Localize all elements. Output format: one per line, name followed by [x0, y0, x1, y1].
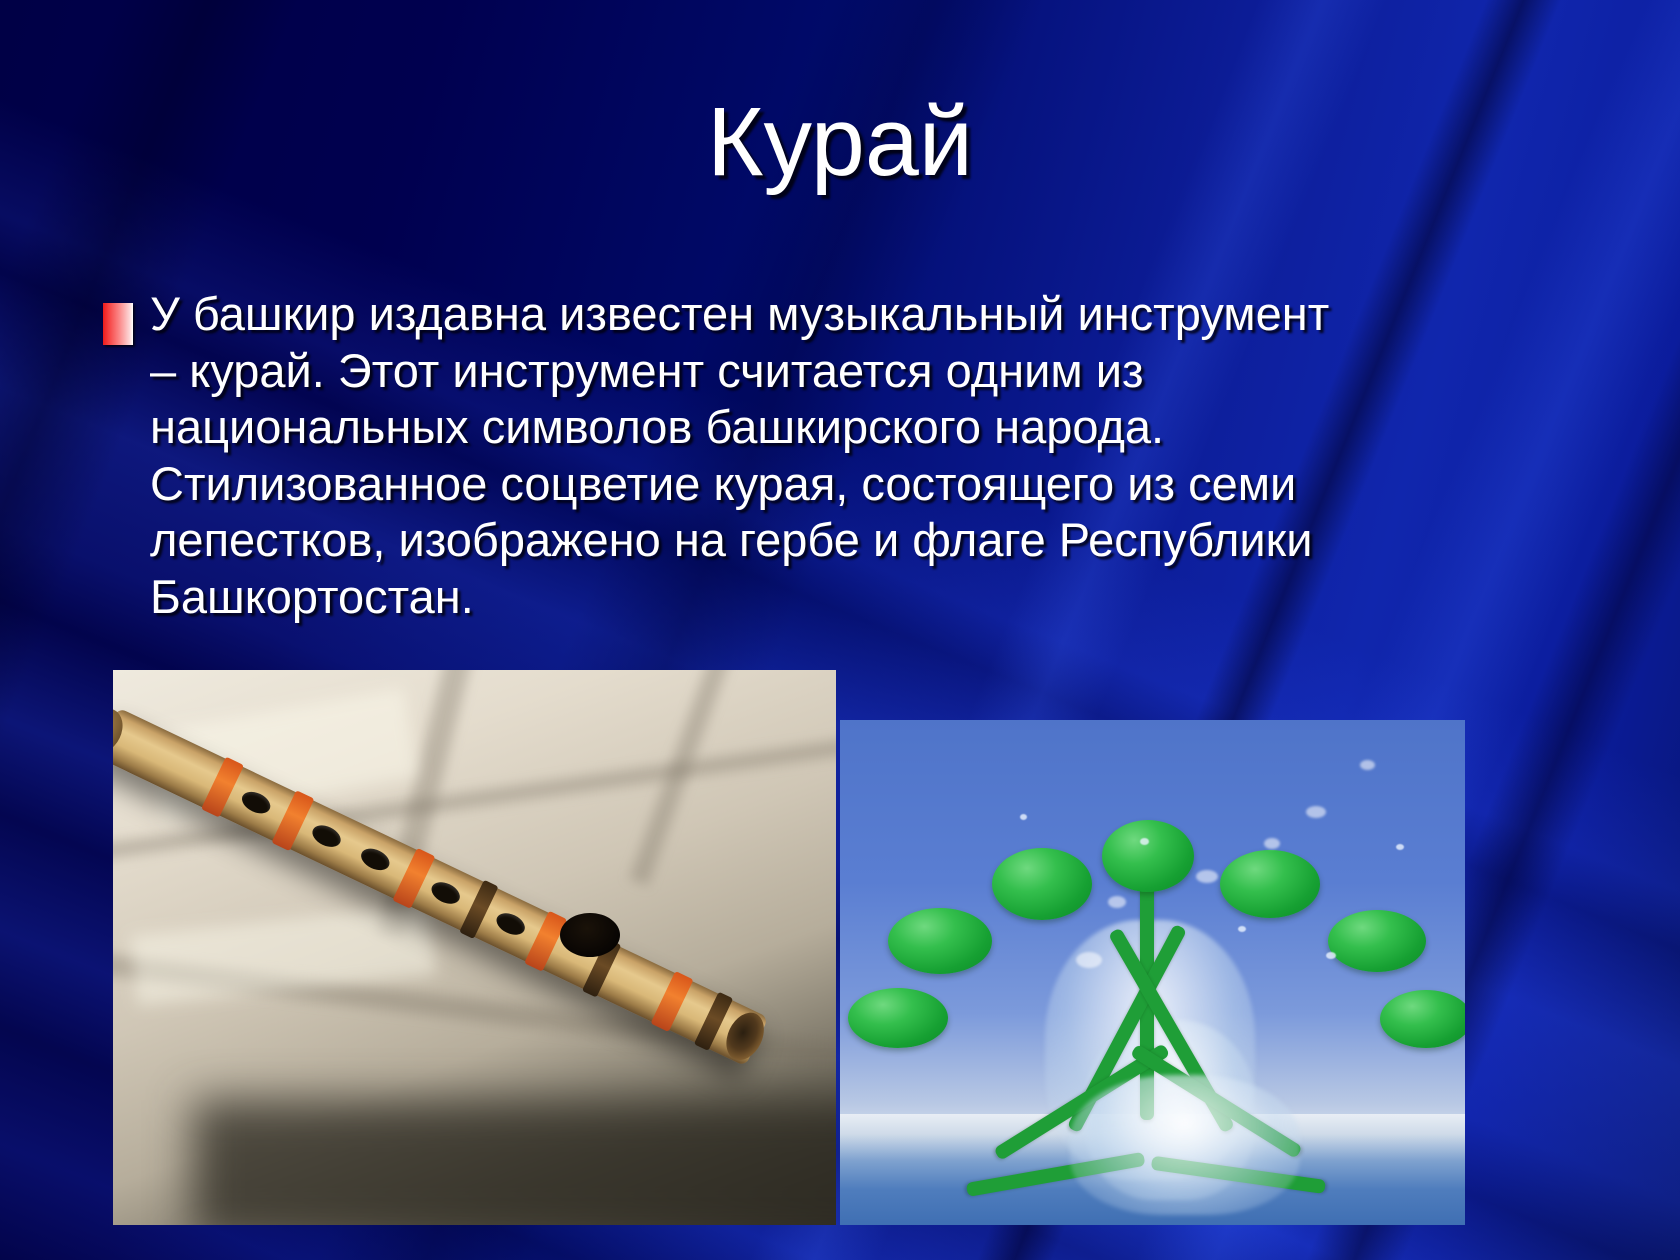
kurai-flute-photo — [113, 670, 836, 1225]
kurai-emblem-photo — [840, 720, 1465, 1225]
body-line: У башкир издавна известен музыкальный ин… — [150, 286, 1519, 343]
body-line: лепестков, изображено на гербе и флаге Р… — [150, 512, 1519, 569]
bullet-paragraph: У башкир издавна известен музыкальный ин… — [99, 286, 1519, 625]
body-line: национальных символов башкирского народа… — [150, 399, 1519, 456]
body-line: Стилизованное соцветие курая, состоящего… — [150, 456, 1519, 513]
body-paragraph-text: У башкир издавна известен музыкальный ин… — [150, 286, 1519, 625]
body-line: Башкортостан. — [150, 569, 1519, 626]
body-content: У башкир издавна известен музыкальный ин… — [99, 286, 1519, 625]
flute-mouthpiece — [113, 703, 130, 759]
slide-title: Курай — [0, 88, 1680, 196]
body-line: – курай. Этот инструмент считается одним… — [150, 343, 1519, 400]
flute-large-hole — [560, 913, 620, 957]
presentation-slide: Курай У башкир издавна известен музыкаль… — [0, 0, 1680, 1260]
bullet-square-icon — [103, 303, 133, 345]
